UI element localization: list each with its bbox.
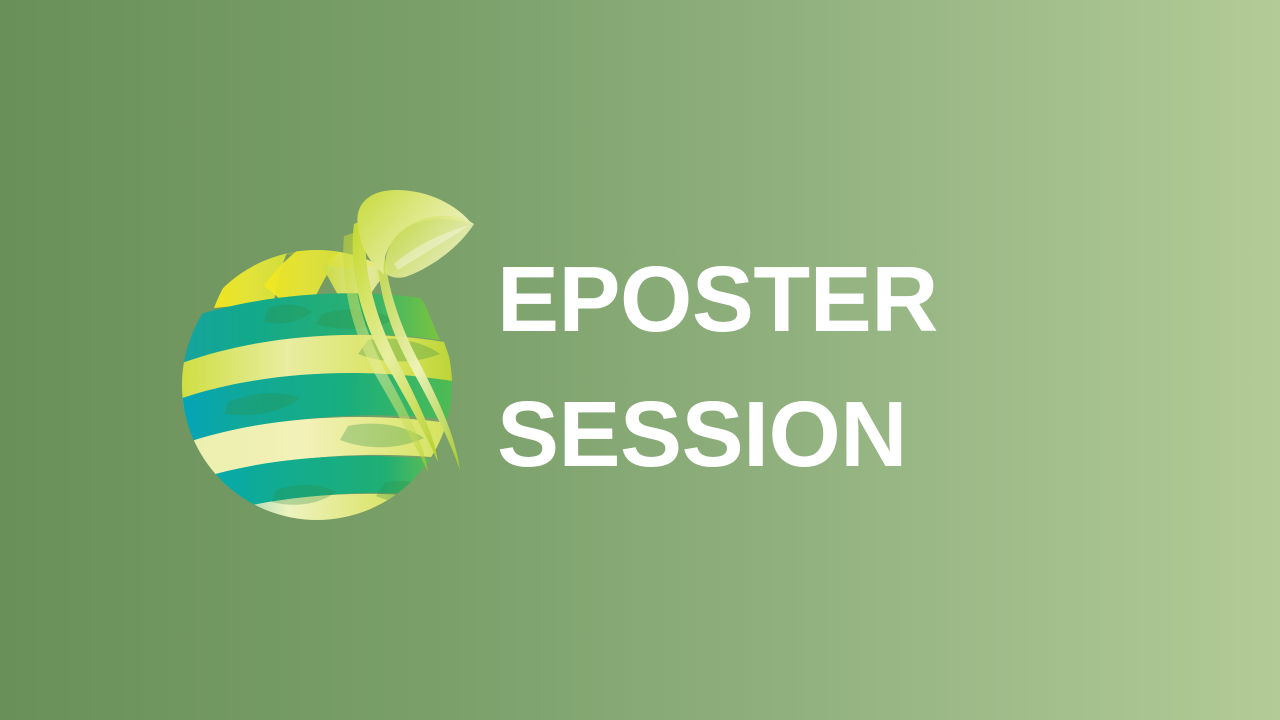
leaf-icon bbox=[357, 190, 474, 278]
eposter-session-slide: EPOSTER SESSION bbox=[0, 0, 1280, 720]
title-line-2: SESSION bbox=[497, 367, 1137, 502]
page-title: EPOSTER SESSION bbox=[497, 232, 1137, 502]
title-line-1: EPOSTER bbox=[497, 232, 1137, 367]
globe-stripes bbox=[166, 220, 472, 618]
striped-globe-leaf-logo bbox=[172, 190, 477, 520]
